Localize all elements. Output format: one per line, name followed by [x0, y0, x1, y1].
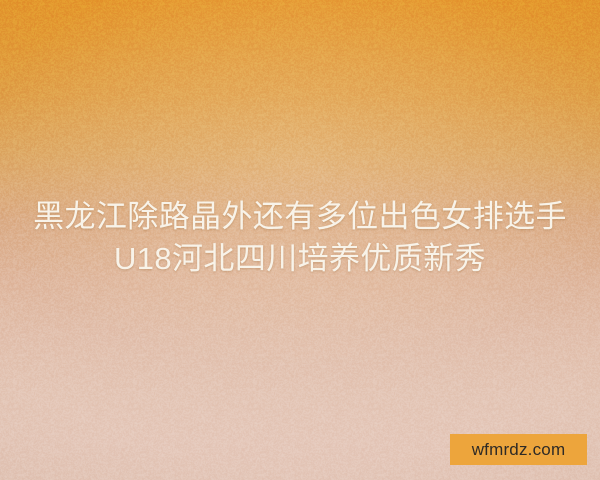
watermark-site-label: wfmrdz.com: [472, 441, 566, 458]
watermark-badge: wfmrdz.com: [450, 434, 587, 465]
cover-image-canvas: 黑龙江除路晶外还有多位出色女排选手 U18河北四川培养优质新秀 wfmrdz.c…: [0, 0, 600, 480]
headline-block: 黑龙江除路晶外还有多位出色女排选手 U18河北四川培养优质新秀: [0, 196, 600, 280]
headline-line-2: U18河北四川培养优质新秀: [18, 238, 582, 280]
headline-line-1: 黑龙江除路晶外还有多位出色女排选手: [18, 196, 582, 238]
